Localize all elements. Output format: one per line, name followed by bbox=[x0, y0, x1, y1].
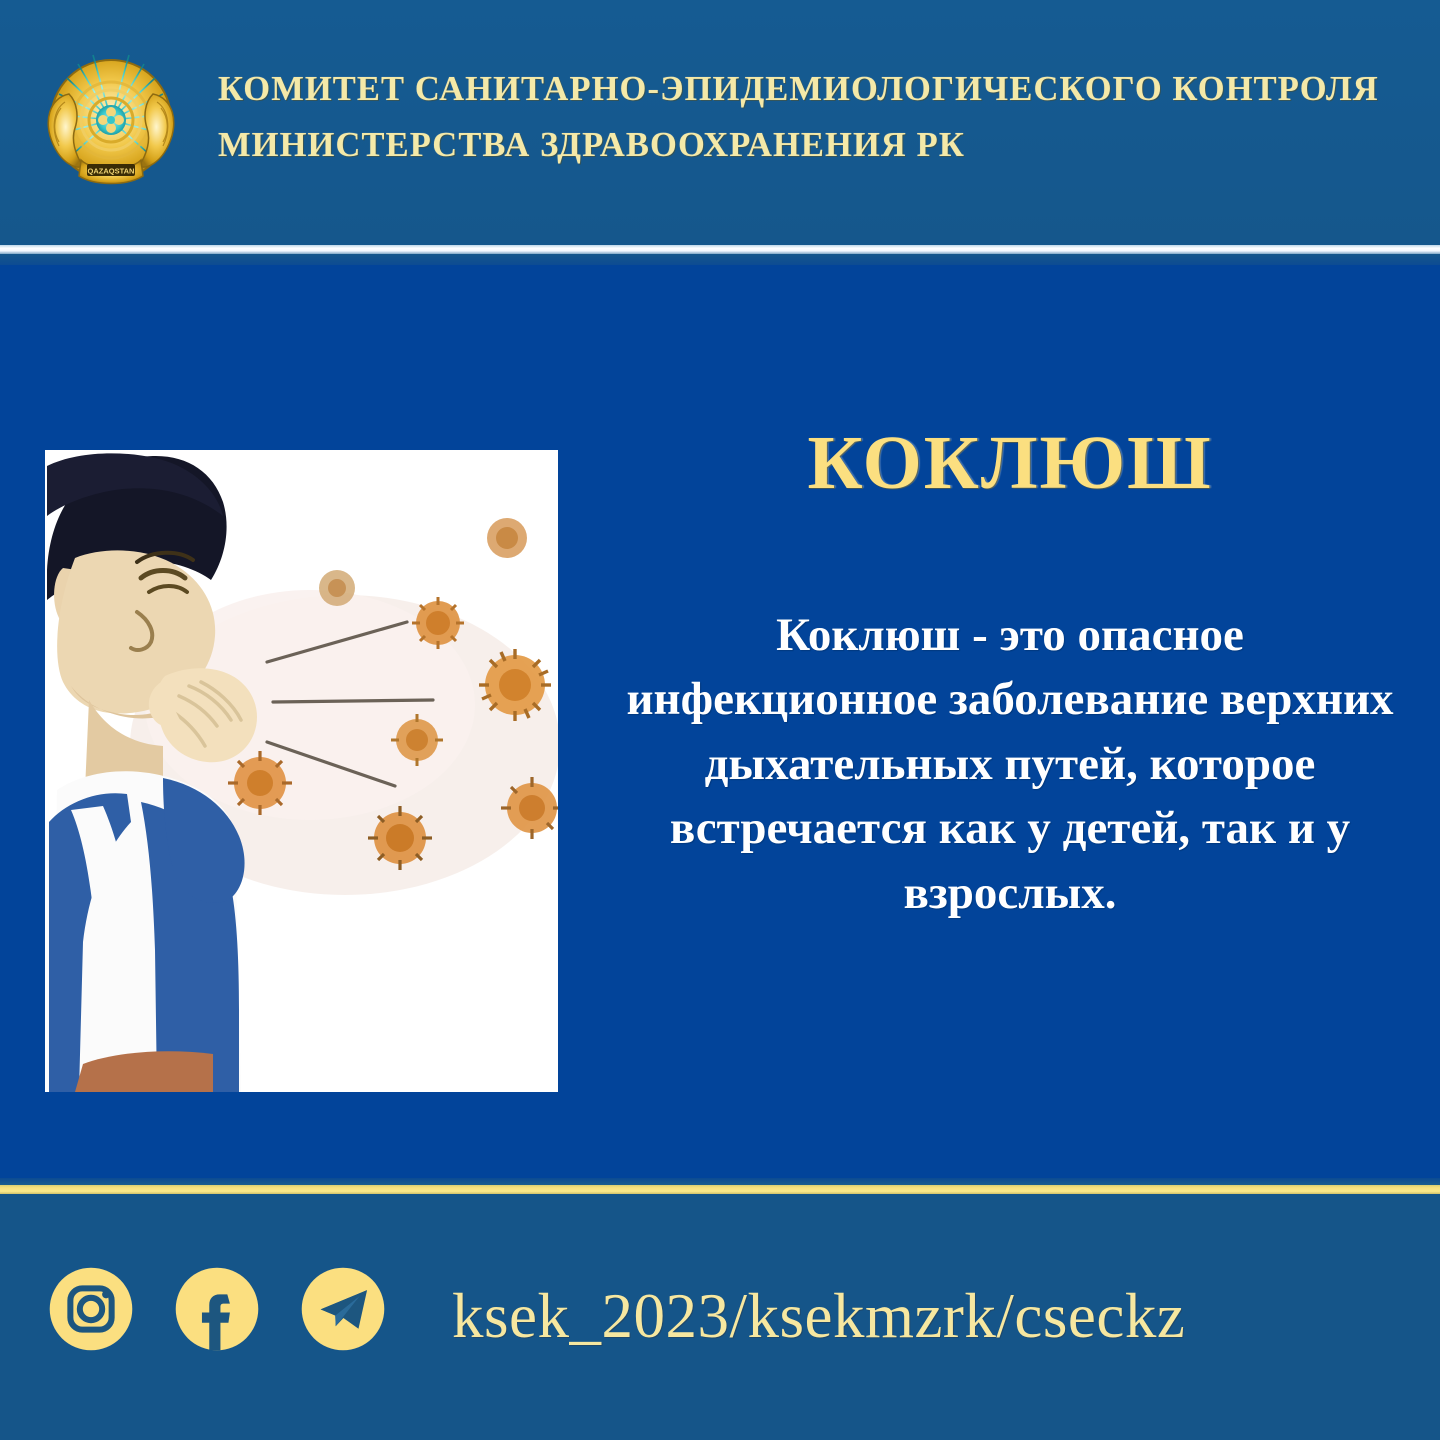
rule-top-fade bbox=[0, 1178, 1440, 1185]
footer-bar: ksek_2023/ksekmzrk/cseckz bbox=[0, 1198, 1440, 1440]
header-line-1: КОМИТЕТ САНИТАРНО-ЭПИДЕМИОЛОГИЧЕСКОГО КО… bbox=[218, 72, 1398, 107]
main-content: КОКЛЮШ Коклюш - это опасное инфекционное… bbox=[0, 265, 1440, 1185]
illustration-frame bbox=[45, 450, 558, 1092]
social-links-row bbox=[48, 1266, 386, 1352]
instagram-icon[interactable] bbox=[48, 1266, 134, 1352]
page-title: КОКЛЮШ bbox=[600, 425, 1420, 501]
person-coughing-illustration bbox=[45, 450, 558, 1092]
social-handles-text: ksek_2023/ksekmzrk/cseckz bbox=[452, 1280, 1185, 1353]
text-column: КОКЛЮШ Коклюш - это опасное инфекционное… bbox=[600, 425, 1420, 925]
rule-yellow-line bbox=[0, 1185, 1440, 1194]
description-text: Коклюш - это опасное инфекционное заболе… bbox=[600, 603, 1420, 925]
emblem-caption: QAZAQSTAN bbox=[88, 167, 135, 176]
header-title-block: КОМИТЕТ САНИТАРНО-ЭПИДЕМИОЛОГИЧЕСКОГО КО… bbox=[218, 72, 1398, 162]
footer-divider-rule bbox=[0, 1178, 1440, 1198]
header-line-2: МИНИСТЕРСТВА ЗДРАВООХРАНЕНИЯ РК bbox=[218, 128, 1398, 163]
header-divider bbox=[0, 245, 1440, 254]
poster-root: QAZAQSTAN КОМИТЕТ САНИТАРНО-ЭПИДЕМИОЛОГИ… bbox=[0, 0, 1440, 1440]
header-bar: QAZAQSTAN КОМИТЕТ САНИТАРНО-ЭПИДЕМИОЛОГИ… bbox=[0, 0, 1440, 247]
telegram-icon[interactable] bbox=[300, 1266, 386, 1352]
kazakhstan-coat-of-arms-emblem-icon: QAZAQSTAN bbox=[31, 36, 191, 196]
facebook-icon[interactable] bbox=[174, 1266, 260, 1352]
